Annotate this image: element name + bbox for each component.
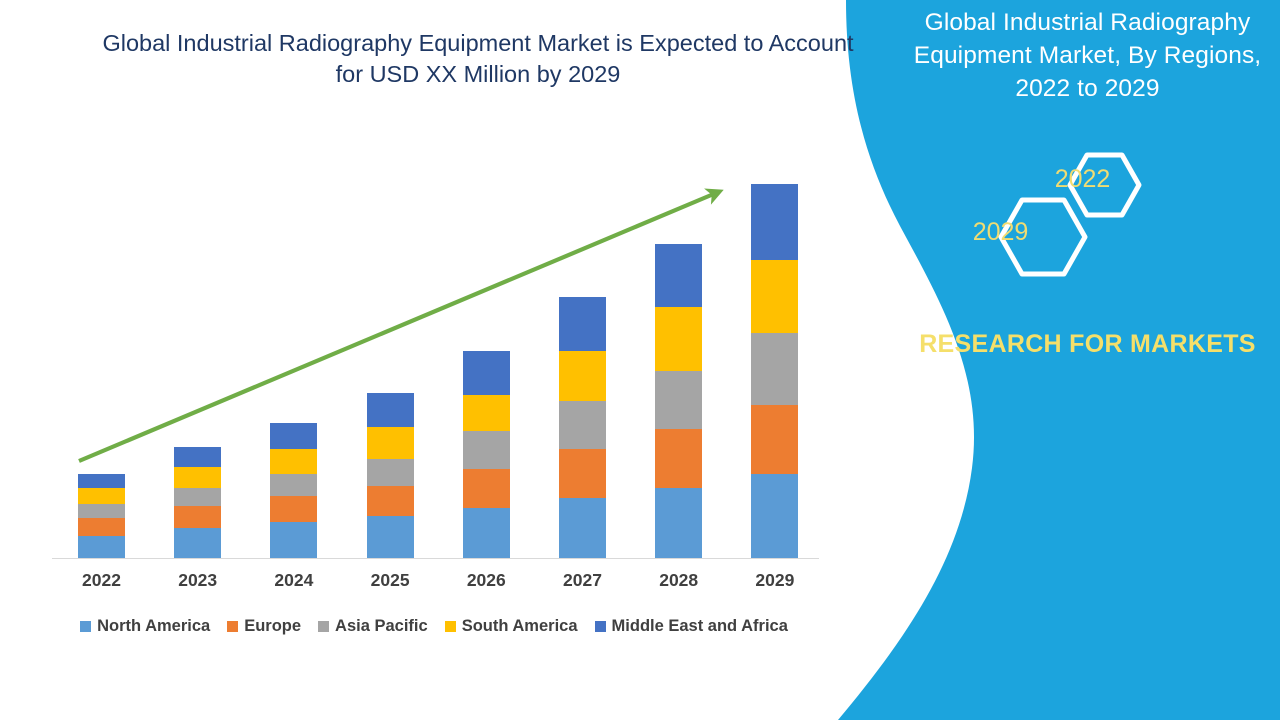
bar-segment — [751, 184, 798, 260]
bar-2027 — [559, 297, 606, 558]
bar-2028 — [655, 244, 702, 558]
x-axis-label-2028: 2028 — [634, 570, 724, 591]
legend-swatch-icon — [227, 621, 238, 632]
bar-segment — [655, 244, 702, 308]
bar-segment — [559, 297, 606, 351]
x-axis-label-2023: 2023 — [153, 570, 243, 591]
bar-segment — [655, 429, 702, 489]
infographic-root: Global Industrial Radiography Equipment … — [0, 0, 1280, 720]
x-axis-label-2026: 2026 — [441, 570, 531, 591]
bar-segment — [78, 536, 125, 558]
bar-segment — [367, 427, 414, 459]
legend-label: South America — [462, 617, 578, 636]
legend-label: Asia Pacific — [335, 617, 428, 636]
x-axis-line — [52, 558, 819, 559]
right-panel-content: Global Industrial Radiography Equipment … — [940, 0, 1280, 720]
bar-segment — [78, 504, 125, 518]
chart-plot-area: 20222023202420252026202720282029 North A… — [0, 0, 880, 660]
legend-item[interactable]: Middle East and Africa — [595, 617, 788, 636]
legend-swatch-icon — [318, 621, 329, 632]
bar-segment — [270, 496, 317, 522]
legend-item[interactable]: Asia Pacific — [318, 617, 428, 636]
bar-segment — [174, 528, 221, 558]
legend-label: Europe — [244, 617, 301, 636]
bar-segment — [367, 516, 414, 558]
bar-segment — [367, 486, 414, 516]
bar-segment — [559, 449, 606, 499]
bar-segment — [78, 488, 125, 504]
x-axis-labels: 20222023202420252026202720282029 — [0, 570, 880, 598]
legend-item[interactable]: North America — [80, 617, 210, 636]
bar-segment — [463, 395, 510, 431]
x-axis-label-2025: 2025 — [345, 570, 435, 591]
bar-segment — [751, 405, 798, 475]
bar-segment — [463, 431, 510, 469]
bar-segment — [78, 518, 125, 536]
bar-segment — [751, 333, 798, 405]
hexagon-2029-label: 2029 — [953, 218, 1048, 247]
legend-item[interactable]: South America — [445, 617, 578, 636]
bar-segment — [559, 401, 606, 449]
x-axis-label-2022: 2022 — [57, 570, 147, 591]
bar-segment — [367, 459, 414, 487]
bar-2024 — [270, 423, 317, 558]
bar-2029 — [751, 184, 798, 558]
hexagon-2022-label: 2022 — [1035, 165, 1130, 194]
bar-2022 — [78, 474, 125, 558]
bar-2025 — [367, 393, 414, 558]
bar-segment — [174, 488, 221, 506]
bar-segment — [559, 498, 606, 558]
bar-segment — [463, 351, 510, 395]
bar-segment — [367, 393, 414, 427]
bar-segment — [78, 474, 125, 488]
legend-swatch-icon — [445, 621, 456, 632]
x-axis-label-2027: 2027 — [538, 570, 628, 591]
legend-label: North America — [97, 617, 210, 636]
brand-logo-text: RESEARCH FOR MARKETS — [895, 328, 1280, 360]
bars-layer — [0, 0, 880, 558]
legend-label: Middle East and Africa — [612, 617, 788, 636]
bar-segment — [463, 469, 510, 509]
bar-segment — [270, 522, 317, 558]
bar-segment — [655, 488, 702, 558]
bar-segment — [463, 508, 510, 558]
panel-heading: Global Industrial Radiography Equipment … — [895, 6, 1280, 105]
bar-segment — [270, 474, 317, 496]
bar-segment — [559, 351, 606, 401]
x-axis-label-2024: 2024 — [249, 570, 339, 591]
bar-2023 — [174, 447, 221, 558]
bar-segment — [270, 423, 317, 449]
bar-segment — [655, 371, 702, 429]
bar-segment — [751, 260, 798, 334]
bar-segment — [174, 506, 221, 528]
bar-segment — [174, 447, 221, 467]
legend-item[interactable]: Europe — [227, 617, 301, 636]
bar-segment — [655, 307, 702, 371]
x-axis-label-2029: 2029 — [730, 570, 820, 591]
chart-legend: North AmericaEuropeAsia PacificSouth Ame… — [0, 617, 868, 636]
bar-2026 — [463, 351, 510, 558]
bar-segment — [174, 467, 221, 489]
legend-swatch-icon — [80, 621, 91, 632]
bar-segment — [751, 474, 798, 558]
hexagon-group: 2022 2029 — [895, 140, 1280, 300]
legend-swatch-icon — [595, 621, 606, 632]
bar-segment — [270, 449, 317, 475]
